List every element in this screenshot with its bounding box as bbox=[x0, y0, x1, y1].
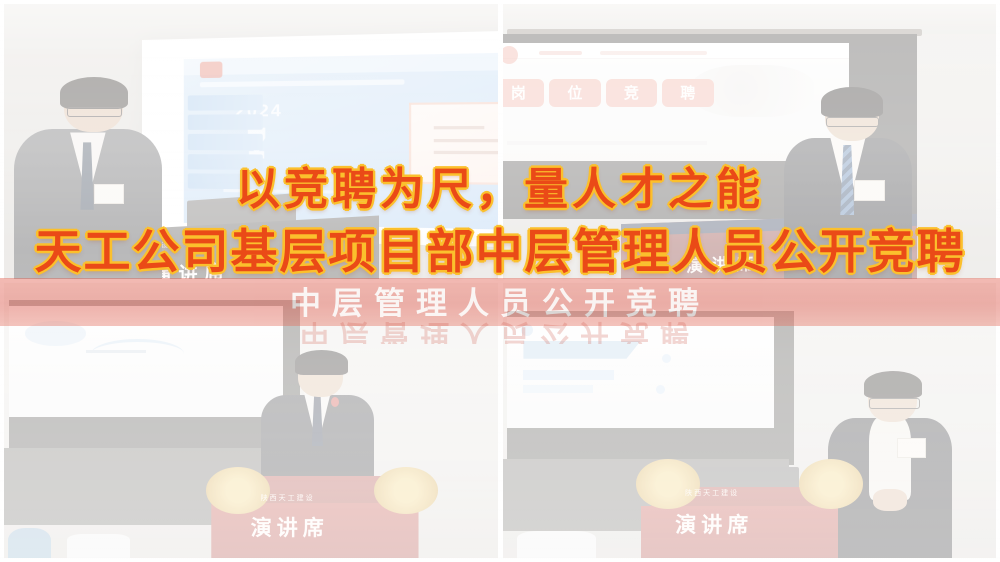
chair-white bbox=[517, 531, 596, 559]
chairs bbox=[4, 528, 201, 558]
lectern-label-text: 演讲席 bbox=[686, 248, 761, 276]
slide-shape bbox=[523, 341, 640, 359]
projection-screen bbox=[507, 317, 773, 428]
speaker-figure bbox=[784, 92, 912, 268]
slide-tile bbox=[188, 134, 263, 150]
speaker-hands bbox=[873, 489, 908, 511]
certificate-line bbox=[434, 138, 497, 141]
certificate-line bbox=[434, 126, 484, 129]
slide-highlight-boxes: 岗 位 竞 聘 bbox=[503, 79, 714, 107]
highlight-box: 聘 bbox=[662, 79, 714, 107]
speaker-hair bbox=[864, 371, 922, 398]
photo-bottom-right: 陕西天工建设 演讲席 bbox=[503, 283, 997, 558]
gold-rosette-icon bbox=[374, 467, 438, 514]
slide-tile-list bbox=[188, 94, 263, 198]
speaker-hair bbox=[60, 77, 128, 109]
slide-line bbox=[86, 350, 146, 353]
chair-white bbox=[67, 534, 130, 558]
projection-screen-frame bbox=[9, 300, 300, 454]
lectern-label-text: 演讲席 bbox=[153, 257, 231, 279]
slide-header-line bbox=[539, 51, 582, 55]
slide-bullet-icon bbox=[521, 324, 533, 336]
lectern-brand-text: 陕西天工建设 bbox=[261, 493, 315, 503]
glasses-icon bbox=[67, 107, 122, 117]
speaker-hair bbox=[821, 87, 883, 117]
slide-tile bbox=[188, 114, 263, 130]
slide-tile bbox=[188, 94, 263, 110]
slide-tile bbox=[188, 154, 263, 170]
gold-rosette-icon bbox=[636, 459, 700, 509]
name-badge bbox=[854, 180, 884, 201]
photo-top-left: 2024 bbox=[4, 4, 498, 279]
slide-graphic bbox=[25, 321, 85, 345]
glasses-icon bbox=[826, 117, 879, 128]
projection-screen-frame bbox=[507, 311, 793, 465]
slide-tile bbox=[188, 174, 263, 190]
chair-blue bbox=[8, 528, 51, 558]
name-badge bbox=[897, 438, 926, 458]
photo-bottom-left: 陕西天工建设 演讲席 bbox=[4, 283, 498, 558]
lectern-label-text: 演讲席 bbox=[675, 509, 753, 539]
slide-shape bbox=[523, 385, 592, 393]
slide-logo-icon bbox=[503, 46, 518, 64]
slide-shape bbox=[523, 370, 613, 380]
lectern-label-text: 演讲席 bbox=[251, 512, 329, 542]
projection-screen bbox=[9, 306, 283, 417]
name-badge bbox=[94, 184, 124, 204]
slide-bullet-icon bbox=[656, 385, 665, 394]
highlight-box: 岗 bbox=[503, 79, 545, 107]
slide-logo-icon bbox=[200, 61, 222, 78]
speaker-figure bbox=[14, 81, 162, 279]
poster-collage: 2024 bbox=[0, 0, 1000, 562]
slide-footer-line bbox=[507, 141, 707, 145]
gold-rosette-icon bbox=[206, 467, 270, 514]
slide-topbar bbox=[184, 50, 497, 75]
lectern-brand-text: 陕西天工建设 bbox=[685, 488, 739, 498]
speaker-hair bbox=[295, 350, 348, 374]
highlight-box: 竞 bbox=[606, 79, 658, 107]
glasses-icon bbox=[869, 398, 920, 409]
certificate-line bbox=[434, 151, 497, 155]
slide-header-line-2 bbox=[600, 51, 707, 55]
slide-subtitle-line bbox=[200, 79, 405, 87]
gold-rosette-icon bbox=[799, 459, 863, 509]
highlight-box: 位 bbox=[549, 79, 601, 107]
photo-top-right: 岗 位 竞 聘 演讲席 bbox=[503, 4, 997, 279]
photo-grid: 2024 bbox=[4, 4, 996, 558]
slide-bullet-icon bbox=[662, 354, 671, 363]
certificate-icon bbox=[409, 101, 497, 185]
slide-arc-graphic bbox=[91, 339, 184, 369]
